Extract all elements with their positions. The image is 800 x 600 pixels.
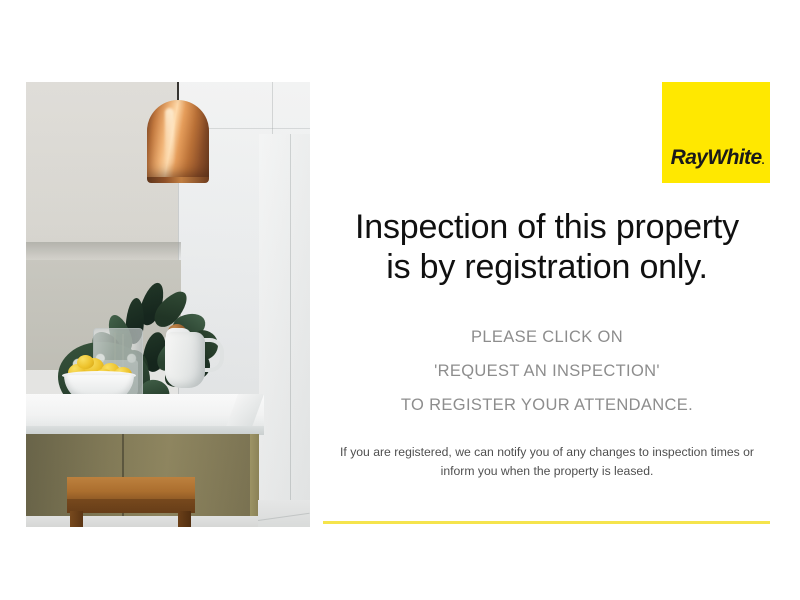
slide-canvas: RayWhite. Inspection of this property is… bbox=[0, 0, 800, 600]
copper-pendant-lamp-icon bbox=[147, 100, 209, 182]
wooden-stool-leg bbox=[70, 511, 83, 527]
cabinet-seam bbox=[290, 134, 291, 516]
ray-white-logo: RayWhite. bbox=[662, 82, 770, 183]
logo-word-ray: Ray bbox=[671, 146, 708, 169]
logo-registered-mark: . bbox=[762, 155, 764, 167]
headline-line-2: is by registration only. bbox=[316, 247, 778, 287]
ray-white-logo-text: RayWhite. bbox=[662, 146, 764, 170]
shelf-shadow bbox=[26, 242, 181, 260]
instruction-line-3: TO REGISTER YOUR ATTENDANCE. bbox=[316, 388, 778, 422]
property-photo bbox=[26, 82, 310, 527]
fineprint-block: If you are registered, we can notify you… bbox=[316, 443, 778, 481]
instruction-line-2: 'REQUEST AN INSPECTION' bbox=[316, 354, 778, 388]
instructions-block: PLEASE CLICK ON 'REQUEST AN INSPECTION' … bbox=[316, 320, 778, 422]
lamp-rim bbox=[147, 177, 209, 183]
tall-cabinet bbox=[259, 134, 310, 516]
fineprint-line-1: If you are registered, we can notify you… bbox=[316, 443, 778, 462]
headline-line-1: Inspection of this property bbox=[316, 207, 778, 247]
logo-word-white: White bbox=[707, 146, 761, 169]
wooden-stool-apron bbox=[67, 499, 195, 513]
instruction-line-1: PLEASE CLICK ON bbox=[316, 320, 778, 354]
fineprint-line-2: inform you when the property is leased. bbox=[316, 462, 778, 481]
wooden-stool-leg bbox=[178, 511, 191, 527]
lamp-highlight bbox=[165, 108, 174, 166]
white-ceramic-jug bbox=[165, 332, 205, 388]
divider-rule bbox=[323, 521, 770, 524]
page-title: Inspection of this property is by regist… bbox=[316, 207, 778, 287]
